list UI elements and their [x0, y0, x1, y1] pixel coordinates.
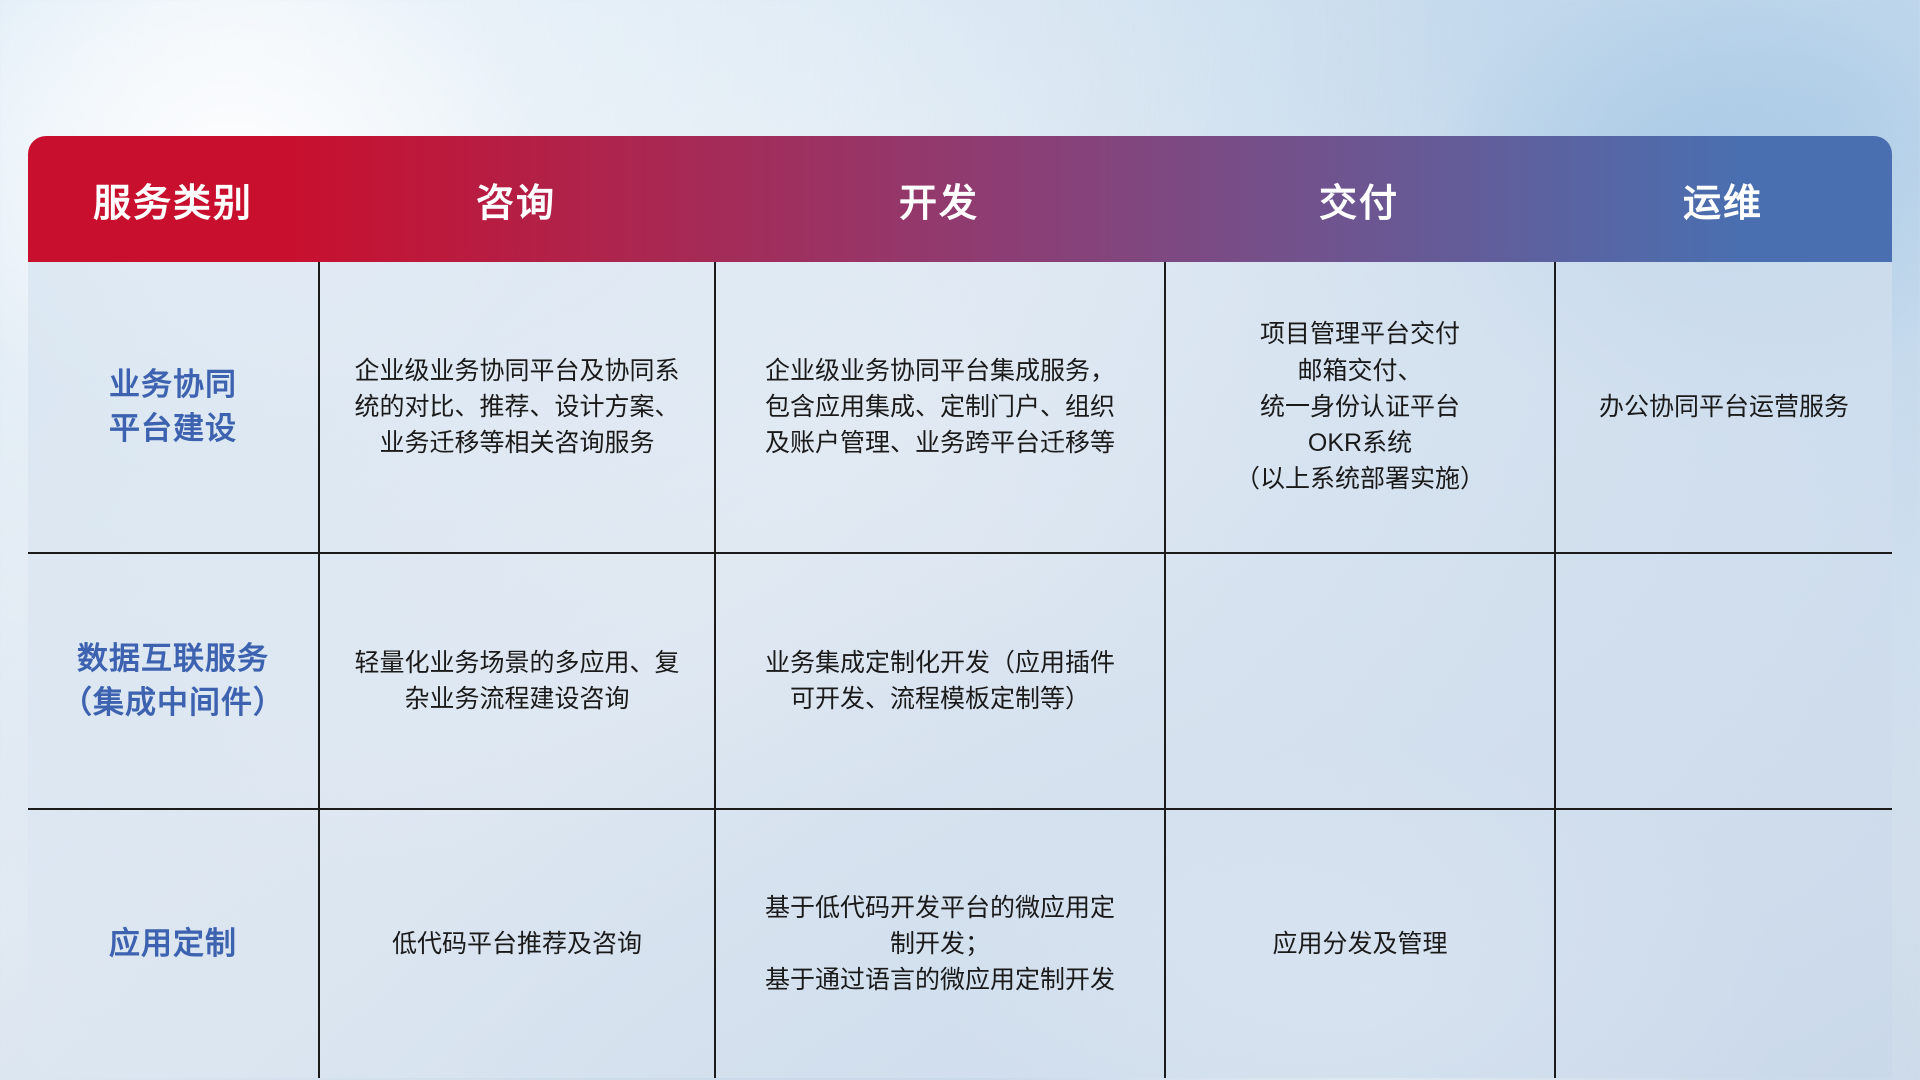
row-category-label: 数据互联服务 （集成中间件） — [28, 554, 318, 808]
cell-operations — [1554, 554, 1892, 808]
row-category-label: 应用定制 — [28, 810, 318, 1078]
cell-consulting: 企业级业务协同平台及协同系 统的对比、推荐、设计方案、 业务迁移等相关咨询服务 — [318, 262, 714, 552]
column-header-consulting: 咨询 — [318, 172, 714, 227]
table-body: 业务协同 平台建设 企业级业务协同平台及协同系 统的对比、推荐、设计方案、 业务… — [28, 262, 1892, 1078]
cell-delivery: 项目管理平台交付 邮箱交付、 统一身份认证平台 OKR系统 （以上系统部署实施） — [1164, 262, 1554, 552]
cell-development: 企业级业务协同平台集成服务， 包含应用集成、定制门户、组织 及账户管理、业务跨平… — [714, 262, 1164, 552]
table-row: 数据互联服务 （集成中间件） 轻量化业务场景的多应用、复 杂业务流程建设咨询 业… — [28, 552, 1892, 808]
column-header-development: 开发 — [714, 172, 1164, 227]
column-header-operations: 运维 — [1554, 172, 1892, 227]
table-row: 应用定制 低代码平台推荐及咨询 基于低代码开发平台的微应用定 制开发； 基于通过… — [28, 808, 1892, 1078]
service-matrix-table: 服务类别 咨询 开发 交付 运维 业务协同 平台建设 企业级业务协同平台及协同系… — [28, 136, 1892, 954]
column-header-delivery: 交付 — [1164, 172, 1554, 227]
column-header-service-category: 服务类别 — [28, 172, 318, 227]
cell-delivery: 应用分发及管理 — [1164, 810, 1554, 1078]
cell-consulting: 轻量化业务场景的多应用、复 杂业务流程建设咨询 — [318, 554, 714, 808]
cell-operations — [1554, 810, 1892, 1078]
table-row: 业务协同 平台建设 企业级业务协同平台及协同系 统的对比、推荐、设计方案、 业务… — [28, 262, 1892, 552]
cell-delivery — [1164, 554, 1554, 808]
cell-operations: 办公协同平台运营服务 — [1554, 262, 1892, 552]
table-header-row: 服务类别 咨询 开发 交付 运维 — [28, 136, 1892, 262]
cell-consulting: 低代码平台推荐及咨询 — [318, 810, 714, 1078]
cell-development: 业务集成定制化开发（应用插件 可开发、流程模板定制等） — [714, 554, 1164, 808]
cell-development: 基于低代码开发平台的微应用定 制开发； 基于通过语言的微应用定制开发 — [714, 810, 1164, 1078]
row-category-label: 业务协同 平台建设 — [28, 262, 318, 552]
